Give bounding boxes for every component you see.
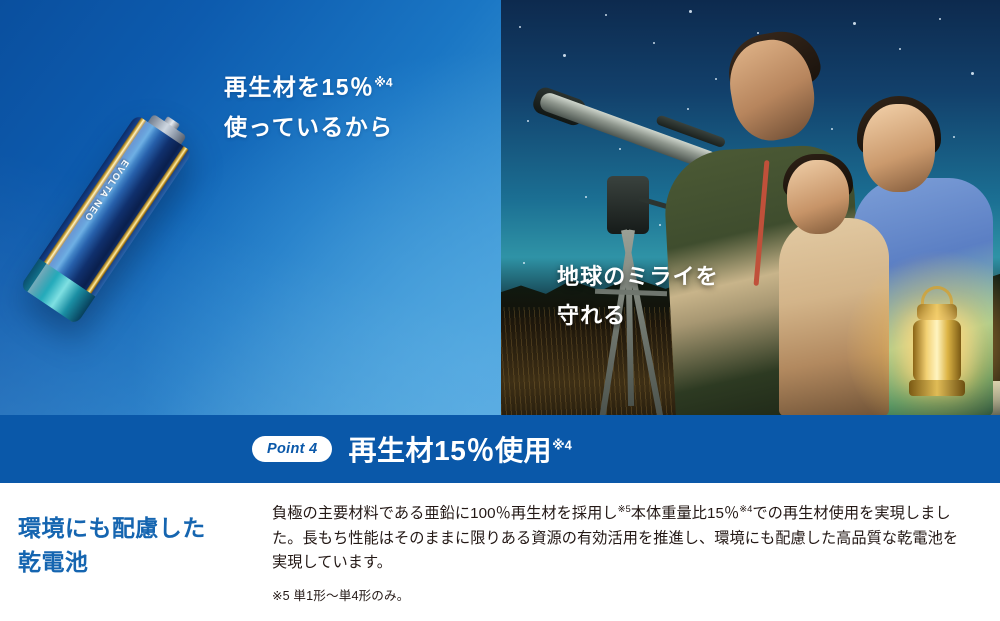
point-banner: Point 4 再生材15％使用※4 <box>0 415 1000 483</box>
description-body-part1: 負極の主要材料である亜鉛に100％再生材を採用し <box>272 505 618 522</box>
point-banner-title-text: 再生材15％使用 <box>348 435 552 466</box>
telescope-mount <box>607 176 649 234</box>
younger-child-face <box>787 160 849 234</box>
description-heading-line1: 環境にも配慮した <box>18 515 206 541</box>
hero-right-copy-line2: 守れる <box>557 297 797 336</box>
point-banner-title-footnote: ※4 <box>552 438 572 453</box>
description-body-part2: 本体重量比15％ <box>631 505 740 522</box>
hero-left-copy: 再生材を15％※4 使っているから <box>224 68 494 147</box>
point-badge: Point 4 <box>252 436 332 462</box>
lantern-base <box>909 380 965 396</box>
hero-section: EVOLTA NEO Panasonic 再生材を15％※4 使っているから <box>0 0 1000 415</box>
hero-right-copy-line1: 地球のミライを <box>557 258 797 297</box>
promo-page: EVOLTA NEO Panasonic 再生材を15％※4 使っているから <box>0 0 1000 621</box>
lantern-cap <box>917 304 957 320</box>
hero-left-copy-line1-footnote: ※4 <box>374 75 392 89</box>
description-heading-line2: 乾電池 <box>18 549 88 575</box>
point-banner-title: 再生材15％使用※4 <box>348 429 571 469</box>
hero-left-copy-line1: 再生材を15％※4 <box>224 68 494 108</box>
hero-right-copy: 地球のミライを 守れる <box>557 258 797 335</box>
description-section: 環境にも配慮した 乾電池 負極の主要材料である亜鉛に100％再生材を採用し※5本… <box>0 483 1000 621</box>
description-footnote-ref-4: ※4 <box>739 503 752 514</box>
lantern-icon <box>889 282 985 415</box>
older-child-face <box>863 104 935 192</box>
description-footnote-ref-5: ※5 <box>618 503 631 514</box>
description-body-text: 負極の主要材料である亜鉛に100％再生材を採用し※5本体重量比15％※4での再生… <box>272 501 972 576</box>
hero-right-photo <box>501 0 1000 415</box>
description-body-column: 負極の主要材料である亜鉛に100％再生材を採用し※5本体重量比15％※4での再生… <box>272 483 1000 621</box>
description-note: ※5 単1形〜単4形のみ。 <box>272 585 982 604</box>
hero-left-blue-panel <box>0 0 501 415</box>
hero-left-copy-line2: 使っているから <box>224 108 494 148</box>
description-heading: 環境にも配慮した 乾電池 <box>0 483 272 621</box>
lantern-globe <box>913 320 961 382</box>
hero-left-copy-line1-text: 再生材を15％ <box>224 74 374 100</box>
point-banner-inner: Point 4 再生材15％使用※4 <box>252 429 572 469</box>
